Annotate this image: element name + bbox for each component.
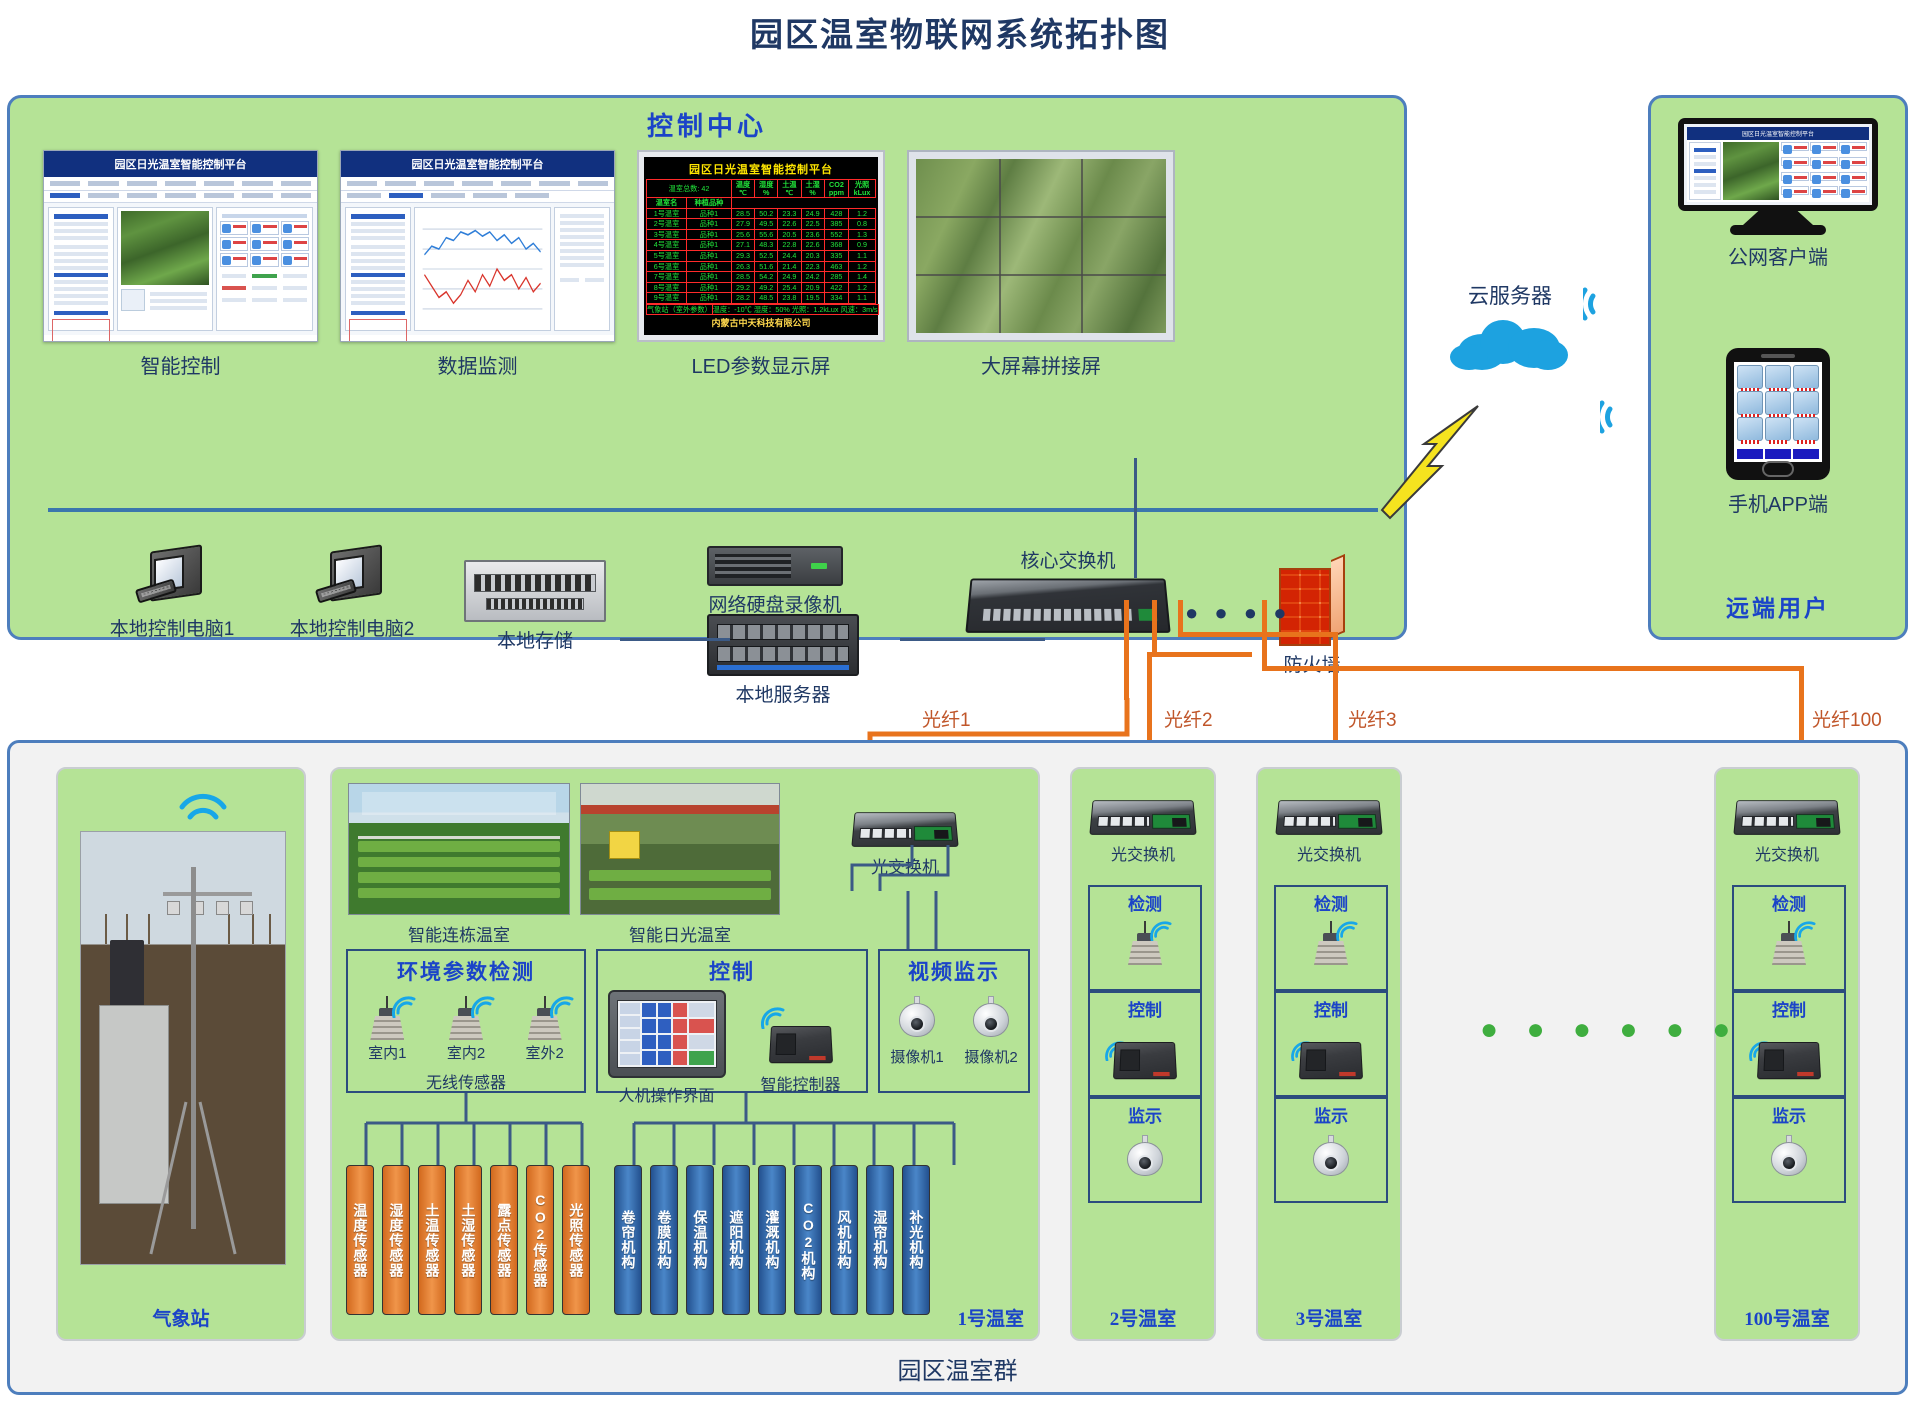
nvr-icon <box>707 546 843 586</box>
remote-users-panel: 园区日光温室智能控制平台 <box>1648 95 1908 640</box>
greenhouse-100-optical-switch[interactable]: 光交换机 <box>1716 799 1858 865</box>
greenhouse-photo-caption-2: 智能日光温室 <box>580 921 780 946</box>
cell-value: 22.8 <box>778 240 801 251</box>
sensor-chip[interactable]: 光照传感器 <box>562 1165 590 1315</box>
control-center-panel: 控制中心 园区日光温室智能控制平台 <box>7 95 1407 640</box>
table-row: 5号温室品种129.352.524.420.33351.1 <box>647 250 876 261</box>
device-local-server[interactable]: 本地服务器 <box>693 614 873 707</box>
cell-value: 428 <box>824 208 848 219</box>
header-variety: 种植品种 <box>687 198 732 209</box>
section-surveillance: 监示 <box>1274 1097 1388 1203</box>
monitor-icon: 园区日光温室智能控制平台 <box>1678 118 1878 211</box>
sensor-chip[interactable]: CO2传感器 <box>526 1165 554 1315</box>
greenhouse-2-label: 2号温室 <box>1072 1304 1214 1331</box>
screen-data-monitor[interactable]: 园区日光温室智能控制平台 <box>340 150 615 342</box>
greenhouse-3-optical-switch[interactable]: 光交换机 <box>1258 799 1400 865</box>
led-total-count: 温室总数: 42 <box>647 180 732 198</box>
cell-value: 22.6 <box>778 219 801 230</box>
connector-screens-core <box>1134 458 1137 578</box>
section-subtitle: 无线传感器 <box>348 1069 584 1093</box>
cell-variety: 品种1 <box>687 293 732 304</box>
optical-switch-icon <box>1275 800 1382 835</box>
fiber-elbow-3 <box>1178 632 1338 637</box>
wifi-signal-icon <box>471 996 497 1018</box>
actuator-chip[interactable]: 遮阳机构 <box>722 1165 750 1315</box>
cell-value: 334 <box>824 293 848 304</box>
wifi-signal-icon <box>550 996 576 1018</box>
section-title: 监示 <box>1090 1099 1200 1127</box>
cell-value: 29.3 <box>731 250 754 261</box>
table-row: 8号温室品种129.249.225.420.94221.2 <box>647 282 876 293</box>
cell-value: 463 <box>824 261 848 272</box>
cell-value: 368 <box>824 240 848 251</box>
plc-controller-icon <box>1113 1042 1177 1079</box>
wireless-link-bolt-icon <box>1370 400 1490 520</box>
wifi-signal-icon <box>1794 921 1818 941</box>
cell-value: 1.4 <box>849 272 876 283</box>
wifi-signal-icon <box>392 996 418 1018</box>
device-local-storage[interactable]: 本地存储 <box>455 560 615 653</box>
cell-value: 1.3 <box>849 229 876 240</box>
plc-controller-icon <box>1757 1042 1821 1079</box>
greenhouse-1-card[interactable]: 智能连栋温室 智能日光温室 光交换机 环境参数检测 室内1 <box>330 767 1040 1341</box>
cell-value: 22.3 <box>801 261 824 272</box>
greenhouse-3-card[interactable]: 光交换机 检测 控制 监示 3号温室 <box>1256 767 1402 1341</box>
section-title: 检测 <box>1734 887 1844 915</box>
cell-variety: 品种1 <box>687 229 732 240</box>
cell-value: 52.5 <box>755 250 778 261</box>
fiber-trunk-2 <box>1152 600 1157 656</box>
cell-value: 25.4 <box>778 282 801 293</box>
plc-controller-icon <box>1299 1042 1363 1079</box>
actuator-chip[interactable]: 补光机构 <box>902 1165 930 1315</box>
plc-node[interactable]: 智能控制器 <box>741 1001 861 1095</box>
hmi-node[interactable]: 人机操作界面 <box>604 990 730 1106</box>
cell-value: 21.4 <box>778 261 801 272</box>
device-label: 网络硬盘录像机 <box>685 590 865 617</box>
actuator-chip[interactable]: 湿帘机构 <box>866 1165 894 1315</box>
cell-variety: 品种1 <box>687 208 732 219</box>
cell-value: 54.2 <box>755 272 778 283</box>
fiber-label-1: 光纤1 <box>922 705 971 732</box>
header-soil-temp: 土温℃ <box>778 180 801 198</box>
cell-value: 1.1 <box>849 293 876 304</box>
wifi-signal-icon <box>1150 921 1174 941</box>
screen-caption: 数据监测 <box>340 350 615 379</box>
table-row: 9号温室品种128.248.523.819.53341.1 <box>647 293 876 304</box>
table-row: 3号温室品种125.655.620.523.65521.3 <box>647 229 876 240</box>
header-light: 光照kLux <box>849 180 876 198</box>
cell-value: 285 <box>824 272 848 283</box>
table-row: 1号温室品种128.550.223.324.94281.2 <box>647 208 876 219</box>
control-center-title: 控制中心 <box>10 106 1404 143</box>
section-title: 视频监示 <box>880 951 1028 986</box>
cell-value: 22.5 <box>801 219 824 230</box>
weather-station-card[interactable]: 气象站 <box>56 767 306 1341</box>
table-row: 7号温室品种128.554.224.924.22851.4 <box>647 272 876 283</box>
wifi-signal-icon <box>1336 921 1360 941</box>
cell-value: 48.3 <box>755 240 778 251</box>
cell-value: 25.6 <box>731 229 754 240</box>
device-label: 本地控制电脑1 <box>102 614 242 641</box>
greenhouse-2-card[interactable]: 光交换机 检测 控制 监示 2号温室 <box>1070 767 1216 1341</box>
cell-value: 51.6 <box>755 261 778 272</box>
header-soil-humidity: 土湿% <box>801 180 824 198</box>
sensor-label: 室外2 <box>512 1042 578 1063</box>
section-control: 控制 <box>1274 991 1388 1097</box>
optical-switch-icon <box>851 812 958 847</box>
app-label: 手机APP端 <box>1726 488 1830 517</box>
greenhouse-photo-multispan <box>348 783 570 915</box>
storage-array-icon <box>464 560 606 622</box>
optical-switch-icon <box>1089 800 1196 835</box>
screen-intelligent-control[interactable]: 园区日光温室智能控制平台 <box>43 150 318 342</box>
cell-value: 26.3 <box>731 261 754 272</box>
greenhouse-2-optical-switch[interactable]: 光交换机 <box>1072 799 1214 865</box>
cell-greenhouse-name: 9号温室 <box>647 293 687 304</box>
crt-computer-icon <box>316 548 388 610</box>
greenhouse-ellipsis: ● ● ● ● ● ● <box>1480 1013 1740 1047</box>
section-title: 控制 <box>1276 993 1386 1021</box>
fiber-ellipsis: ● ● ● ● <box>1185 600 1292 626</box>
phone-icon <box>1726 348 1830 480</box>
ptz-camera-icon <box>1769 1135 1809 1183</box>
device-label: 本地存储 <box>455 626 615 653</box>
device-label: 本地控制电脑2 <box>282 614 422 641</box>
wifi-signal-icon-phone <box>1600 395 1644 439</box>
cell-value: 1.2 <box>849 261 876 272</box>
hmi-panel-icon <box>608 990 726 1078</box>
actuator-chip[interactable]: CO2机构 <box>794 1165 822 1315</box>
app-title: 园区日光温室智能控制平台 <box>115 156 247 172</box>
section-title: 控制 <box>598 951 866 986</box>
section-surveillance: 监示 <box>1732 1097 1846 1203</box>
cell-value: 28.2 <box>731 293 754 304</box>
section-control: 控制 <box>1088 991 1202 1097</box>
cell-value: 28.5 <box>731 208 754 219</box>
camera-node-1[interactable]: 摄像机1 <box>884 996 950 1067</box>
ptz-camera-icon <box>971 996 1011 1044</box>
cell-value: 335 <box>824 250 848 261</box>
cell-value: 1.1 <box>849 250 876 261</box>
actuator-chip[interactable]: 卷帘机构 <box>614 1165 642 1315</box>
app-title: 园区日光温室智能控制平台 <box>412 156 544 172</box>
server-icon <box>707 614 859 676</box>
cell-value: 24.9 <box>801 208 824 219</box>
header-co2: CO2ppm <box>824 180 848 198</box>
sensor-chip[interactable]: 土温传感器 <box>418 1165 446 1315</box>
section-detection: 检测 <box>1732 885 1846 991</box>
section-title: 检测 <box>1090 887 1200 915</box>
table-row: 2号温室品种127.949.522.622.53850.8 <box>647 219 876 230</box>
cell-value: 28.5 <box>731 272 754 283</box>
section-title: 检测 <box>1276 887 1386 915</box>
section-title: 控制 <box>1734 993 1844 1021</box>
ptz-camera-icon <box>897 996 937 1044</box>
cell-variety: 品种1 <box>687 272 732 283</box>
section-title: 监示 <box>1276 1099 1386 1127</box>
cell-greenhouse-name: 6号温室 <box>647 261 687 272</box>
fiber-label-100: 光纤100 <box>1812 705 1882 732</box>
sensor-node-outdoor-2[interactable]: 室外2 <box>512 996 578 1063</box>
greenhouse-group-panel: 园区温室群 气象站 <box>7 740 1908 1395</box>
led-weather-row: 气象站（室外参数） 温度：-10℃ 湿度：50% 光照：1.2kLux 风速：3… <box>647 304 879 315</box>
monitor-base <box>1730 225 1826 235</box>
section-detection: 检测 <box>1274 885 1388 991</box>
core-switch-icon <box>965 579 1170 633</box>
cell-value: 24.2 <box>801 272 824 283</box>
sensor-label: 室内2 <box>433 1042 499 1063</box>
connector-storage-server <box>620 638 730 641</box>
cell-value: 23.3 <box>778 208 801 219</box>
section-surveillance: 监示 <box>1088 1097 1202 1203</box>
table-header-row: 温室总数: 42 温度℃ 湿度% 土温℃ 土湿% CO2ppm 光照kLux <box>647 180 876 198</box>
cell-value: 49.2 <box>755 282 778 293</box>
fiber-trunk-1 <box>1124 600 1129 700</box>
cell-value: 20.5 <box>778 229 801 240</box>
cell-value: 48.5 <box>755 293 778 304</box>
fiber-label-2: 光纤2 <box>1164 705 1213 732</box>
cell-greenhouse-name: 3号温室 <box>647 229 687 240</box>
section-title: 控制 <box>1090 993 1200 1021</box>
device-local-pc-2[interactable]: 本地控制电脑2 <box>282 548 422 641</box>
camera-node-2[interactable]: 摄像机2 <box>958 996 1024 1067</box>
greenhouse-3-label: 3号温室 <box>1258 1304 1400 1331</box>
section-title: 环境参数检测 <box>348 951 584 986</box>
cell-value: 422 <box>824 282 848 293</box>
crt-computer-icon <box>136 548 208 610</box>
monitor-stand <box>1743 211 1813 225</box>
cell-greenhouse-name: 1号温室 <box>647 208 687 219</box>
actuator-chip[interactable]: 卷膜机构 <box>650 1165 678 1315</box>
header-gh-name: 温室名 <box>647 198 687 209</box>
cloud-server[interactable]: 云服务器 <box>1450 280 1570 370</box>
camera-label: 摄像机1 <box>884 1046 950 1067</box>
screen-led-display[interactable]: 园区日光温室智能控制平台 温室总数: 42 温度℃ 湿度% 土温℃ 土湿% CO… <box>637 150 885 342</box>
section-title: 监示 <box>1734 1099 1844 1127</box>
cell-value: 23.6 <box>801 229 824 240</box>
cell-value: 1.2 <box>849 282 876 293</box>
cell-value: 49.5 <box>755 219 778 230</box>
section-video-surveillance: 视频监示 摄像机1 摄像机2 <box>878 949 1030 1093</box>
weather-station-label: 气象站 <box>58 1304 304 1331</box>
sensor-chip[interactable]: 温度传感器 <box>346 1165 374 1315</box>
sensor-chip-list: 温度传感器湿度传感器土温传感器土湿传感器露点传感器CO2传感器光照传感器 <box>346 1165 590 1315</box>
cell-variety: 品种1 <box>687 240 732 251</box>
cell-value: 20.9 <box>801 282 824 293</box>
led-footer-label: 气象站（室外参数） <box>647 304 713 315</box>
cell-value: 27.1 <box>731 240 754 251</box>
switch-branch-lines <box>752 845 1042 951</box>
header-temp: 温度℃ <box>731 180 754 198</box>
section-environment-detection: 环境参数检测 室内1 室内2 <box>346 949 586 1093</box>
public-network-client[interactable]: 园区日光温室智能控制平台 <box>1678 118 1878 270</box>
actuator-chip[interactable]: 灌溉机构 <box>758 1165 786 1315</box>
actuator-chip[interactable]: 风机机构 <box>830 1165 858 1315</box>
cell-greenhouse-name: 4号温室 <box>647 240 687 251</box>
section-control: 控制 <box>1732 991 1846 1097</box>
table-row: 4号温室品种127.148.322.822.63680.9 <box>647 240 876 251</box>
header-humidity: 湿度% <box>755 180 778 198</box>
cell-value: 20.3 <box>801 250 824 261</box>
switch-label: 光交换机 <box>1072 841 1214 865</box>
greenhouse-100-label: 100号温室 <box>1716 1304 1858 1331</box>
screen-caption: 智能控制 <box>43 350 318 379</box>
actuator-chip[interactable]: 保温机构 <box>686 1165 714 1315</box>
led-title: 园区日光温室智能控制平台 <box>646 159 876 179</box>
sensor-label: 室内1 <box>354 1042 420 1063</box>
cell-greenhouse-name: 8号温室 <box>647 282 687 293</box>
greenhouse-group-title: 园区温室群 <box>10 1351 1905 1386</box>
greenhouse-100-card[interactable]: 光交换机 检测 控制 监示 100号温室 <box>1714 767 1860 1341</box>
fiber-label-3: 光纤3 <box>1348 705 1397 732</box>
cell-value: 0.8 <box>849 219 876 230</box>
mobile-app-client[interactable]: 手机APP端 <box>1726 348 1830 517</box>
sensor-chip[interactable]: 露点传感器 <box>490 1165 518 1315</box>
device-label: 本地服务器 <box>693 680 873 707</box>
control-center-divider <box>48 508 1378 512</box>
camera-label: 摄像机2 <box>958 1046 1024 1067</box>
device-local-pc-1[interactable]: 本地控制电脑1 <box>102 548 242 641</box>
cell-variety: 品种1 <box>687 261 732 272</box>
sensor-node-indoor-1[interactable]: 室内1 <box>354 996 420 1063</box>
device-label: 防火墙 <box>1252 650 1372 677</box>
wifi-signal-icon <box>176 783 230 825</box>
greenhouse-1-label: 1号温室 <box>957 1304 1024 1331</box>
cell-value: 24.4 <box>778 250 801 261</box>
cloud-icon <box>1450 314 1570 370</box>
fiber-trunk-3 <box>1178 600 1183 636</box>
ptz-camera-icon <box>1311 1135 1351 1183</box>
cell-greenhouse-name: 2号温室 <box>647 219 687 230</box>
sensor-node-indoor-2[interactable]: 室内2 <box>433 996 499 1063</box>
table-subheader-row: 温室名 种植品种 <box>647 198 876 209</box>
device-core-switch[interactable]: 核心交换机 <box>958 546 1178 633</box>
cell-value: 55.6 <box>755 229 778 240</box>
device-label: 核心交换机 <box>958 546 1178 573</box>
cell-value: 23.8 <box>778 293 801 304</box>
section-detection: 检测 <box>1088 885 1202 991</box>
sensor-chip[interactable]: 湿度传感器 <box>382 1165 410 1315</box>
weather-station-photo <box>80 831 286 1265</box>
led-table-body: 1号温室品种128.550.223.324.94281.22号温室品种127.9… <box>647 208 876 303</box>
screen-caption: 大屏幕拼接屏 <box>907 350 1175 379</box>
led-company: 内蒙古中天科技有限公司 <box>646 315 876 329</box>
cell-value: 50.2 <box>755 208 778 219</box>
greenhouse-photo-solar <box>580 783 780 915</box>
device-tree-connectors <box>346 1093 1036 1167</box>
cell-greenhouse-name: 7号温室 <box>647 272 687 283</box>
cell-variety: 品种1 <box>687 250 732 261</box>
cell-variety: 品种1 <box>687 282 732 293</box>
cell-value: 22.6 <box>801 240 824 251</box>
device-nvr[interactable]: 网络硬盘录像机 <box>685 546 865 617</box>
cell-value: 24.9 <box>778 272 801 283</box>
fiber-elbow-2 <box>1152 652 1252 657</box>
cloud-label: 云服务器 <box>1450 280 1570 310</box>
optical-switch-icon <box>1733 800 1840 835</box>
wifi-signal-icon-right <box>1583 282 1627 326</box>
switch-label: 光交换机 <box>1258 841 1400 865</box>
ptz-camera-icon <box>1125 1135 1165 1183</box>
led-footer-value: 温度：-10℃ 湿度：50% 光照：1.2kLux 风速：3m/s <box>712 304 878 315</box>
pc-label: 公网客户端 <box>1678 241 1878 270</box>
page-title: 园区温室物联网系统拓扑图 <box>0 8 1920 56</box>
remote-users-title: 远端用户 <box>1651 589 1905 623</box>
cell-value: 552 <box>824 229 848 240</box>
section-control: 控制 人机操作界面 智能控制器 <box>596 949 868 1093</box>
cell-value: 19.5 <box>801 293 824 304</box>
connector-server-core <box>900 638 1045 641</box>
sensor-chip[interactable]: 土湿传感器 <box>454 1165 482 1315</box>
actuator-chip-list: 卷帘机构卷膜机构保温机构遮阳机构灌溉机构CO2机构风机机构湿帘机构补光机构 <box>614 1165 930 1315</box>
screen-caption: LED参数显示屏 <box>637 350 885 379</box>
cell-value: 1.2 <box>849 208 876 219</box>
table-row: 6号温室品种126.351.621.422.34631.2 <box>647 261 876 272</box>
led-parameter-table: 温室总数: 42 温度℃ 湿度% 土温℃ 土湿% CO2ppm 光照kLux 温… <box>646 179 876 304</box>
cell-value: 29.2 <box>731 282 754 293</box>
cell-value: 27.9 <box>731 219 754 230</box>
plc-controller-icon <box>768 1026 832 1063</box>
plc-label: 智能控制器 <box>741 1071 861 1095</box>
fiber-elbow-100 <box>1262 666 1804 671</box>
switch-label: 光交换机 <box>1716 841 1858 865</box>
greenhouse-photo-caption-1: 智能连栋温室 <box>348 921 570 946</box>
cell-value: 0.9 <box>849 240 876 251</box>
cell-greenhouse-name: 5号温室 <box>647 250 687 261</box>
screen-video-wall[interactable]: 大屏幕拼接屏 <box>907 150 1175 342</box>
cell-value: 385 <box>824 219 848 230</box>
cell-variety: 品种1 <box>687 219 732 230</box>
